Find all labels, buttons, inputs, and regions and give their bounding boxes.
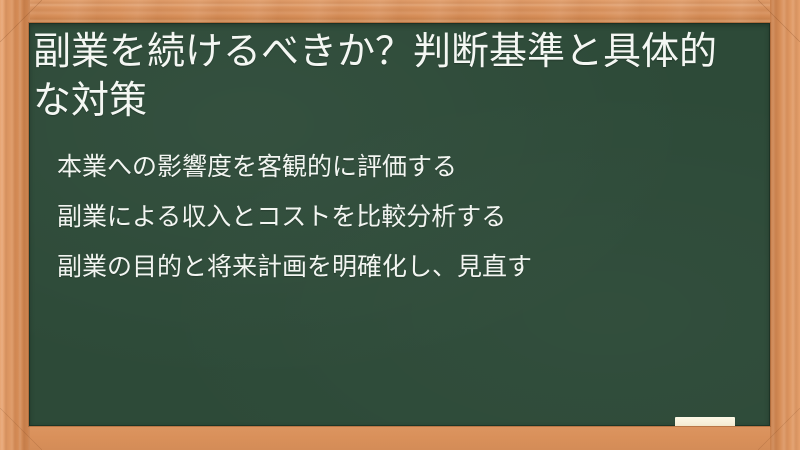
- list-item: 本業への影響度を客観的に評価する: [57, 155, 757, 180]
- bullet-list: 本業への影響度を客観的に評価する 副業による収入とコストを比較分析する 副業の目…: [57, 155, 757, 305]
- slide-title: 副業を続けるべきか？判断基準と具体的な対策: [33, 28, 751, 127]
- list-item: 副業による収入とコストを比較分析する: [57, 205, 757, 230]
- frame-rail-bottom: [0, 426, 800, 450]
- list-item: 副業の目的と将来計画を明確化し、見直す: [57, 255, 757, 280]
- chalkboard-surface: 副業を続けるべきか？判断基準と具体的な対策 本業への影響度を客観的に評価する 副…: [29, 23, 770, 426]
- frame-rail-left: [0, 0, 30, 450]
- frame-rail-right: [770, 0, 800, 450]
- chalk-stick: [675, 417, 735, 426]
- chalkboard-slide: 副業を続けるべきか？判断基準と具体的な対策 本業への影響度を客観的に評価する 副…: [0, 0, 800, 450]
- frame-rail-top: [0, 0, 800, 23]
